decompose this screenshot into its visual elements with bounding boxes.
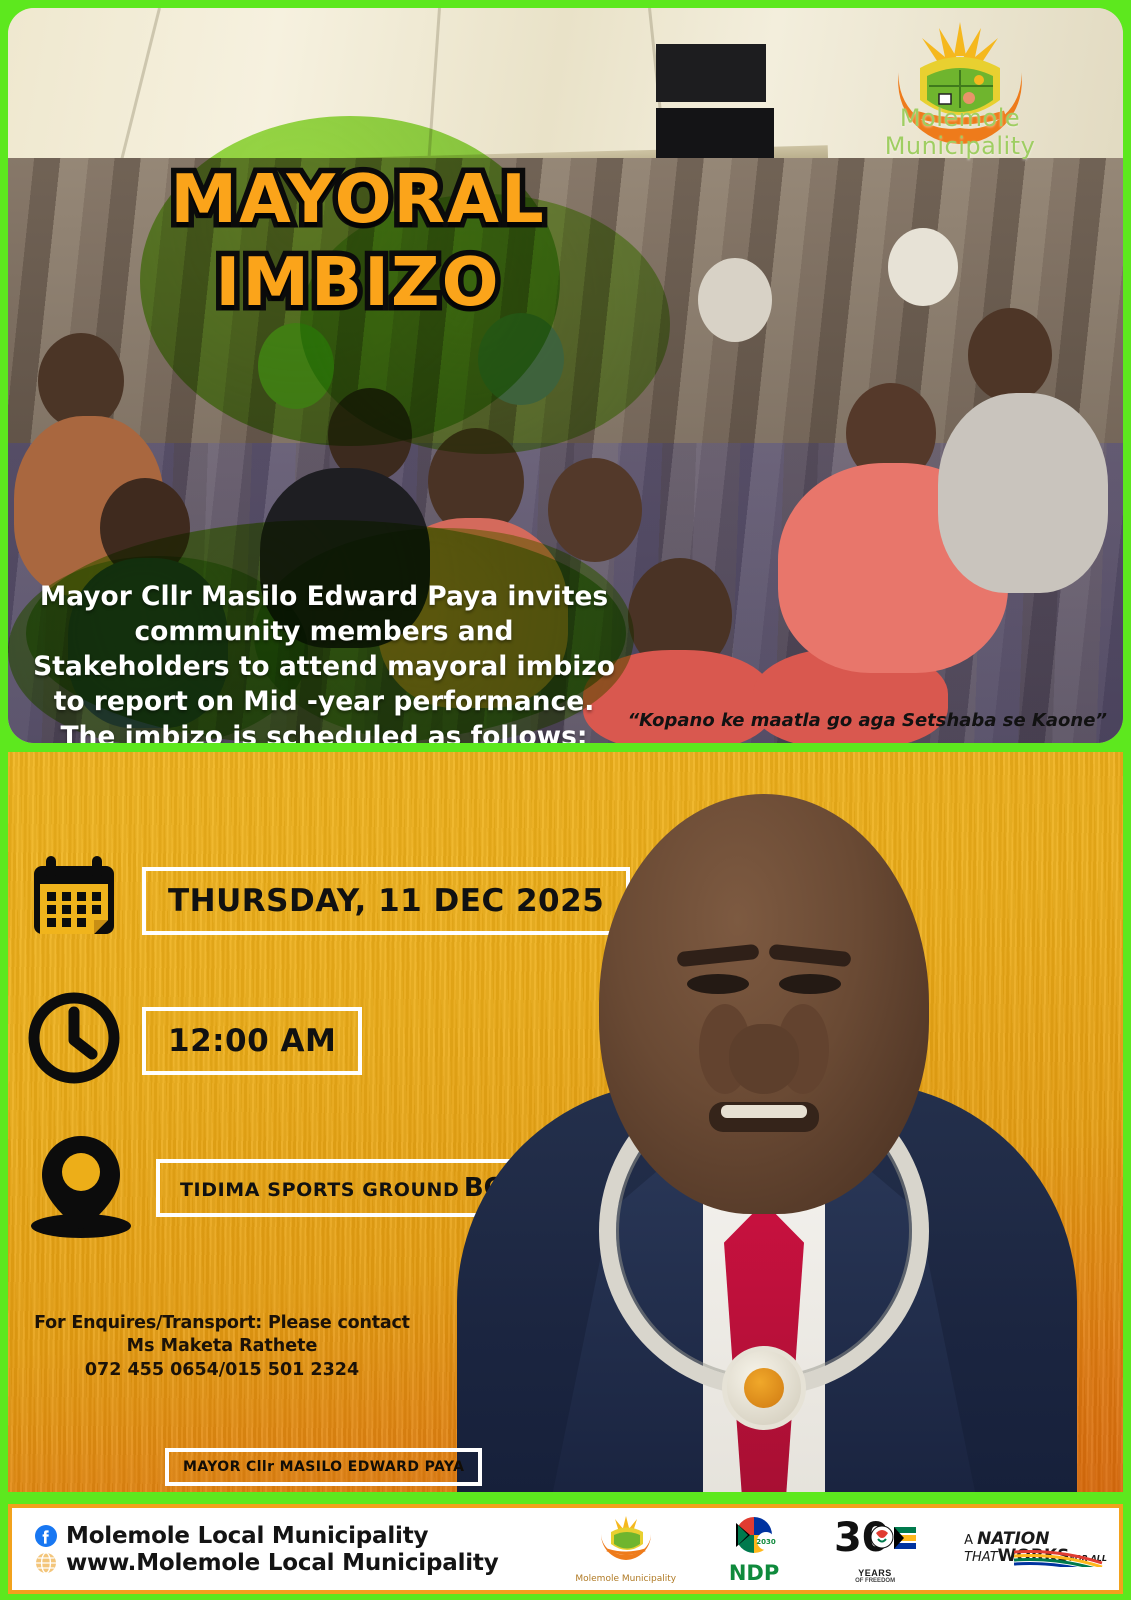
- page-title: MAYORAL IMBIZO: [128, 166, 588, 316]
- ndp-label: NDP: [722, 1564, 786, 1583]
- motto-tagline: “Kopano ke maatla go aga Setshaba se Kao…: [628, 710, 1107, 731]
- attendee: [38, 333, 124, 429]
- molemole-municipality-logo: Molemole Municipality: [825, 14, 1095, 164]
- mayor-name: MAYOR Cllr MASILO EDWARD PAYA: [183, 1459, 464, 1475]
- attendee: [888, 228, 958, 306]
- years-sub-label: OF FREEDOM: [832, 1578, 918, 1584]
- ndp-year: 2030: [756, 1538, 776, 1546]
- years-label: YEARS: [832, 1568, 918, 1578]
- contact-info: For Enquires/Transport: Please contact M…: [22, 1312, 422, 1382]
- imbizo-poster: MAYORAL IMBIZO Mayor Cllr Masilo Edward …: [0, 0, 1131, 1600]
- clock-icon: [26, 990, 122, 1091]
- footer-bar: Molemole Local Municipality www.Molemol: [8, 1504, 1123, 1594]
- a-nation-that-works-logo: A NATION THATWORKSFOR ALL: [964, 1531, 1107, 1567]
- attendee: [698, 258, 772, 342]
- municipality-crest-icon: [591, 1514, 661, 1568]
- map-pin-icon: [26, 1130, 136, 1245]
- attendee: [968, 308, 1052, 402]
- eye-right: [779, 974, 841, 994]
- eye-left: [687, 974, 749, 994]
- mayor-head: [599, 794, 929, 1214]
- facebook-row[interactable]: Molemole Local Municipality: [34, 1523, 499, 1549]
- nation-l2a: THAT: [964, 1550, 998, 1565]
- event-photo-panel: MAYORAL IMBIZO Mayor Cllr Masilo Edward …: [8, 8, 1123, 743]
- website-label: www.Molemole Local Municipality: [66, 1550, 499, 1576]
- event-time: 12:00 AM: [168, 1023, 336, 1059]
- website-row[interactable]: www.Molemole Local Municipality: [34, 1550, 499, 1576]
- 30-years-of-freedom-logo: 30 YEARS OF FREEDOM: [832, 1515, 918, 1584]
- calendar-icon: [26, 850, 122, 951]
- invitation-description: Mayor Cllr Masilo Edward Paya invites co…: [32, 580, 616, 743]
- attendee: [938, 393, 1108, 593]
- title-line-2: IMBIZO: [128, 249, 588, 316]
- contact-line-3: 072 455 0654/015 501 2324: [22, 1359, 422, 1382]
- teeth: [721, 1105, 807, 1118]
- globe-icon[interactable]: [34, 1551, 58, 1575]
- footer-molemole-caption: Molemole Municipality: [575, 1574, 676, 1584]
- ndp-flag-icon: 2030: [722, 1515, 786, 1559]
- nation-l1a: A: [964, 1533, 977, 1548]
- speaker-box: [656, 44, 766, 102]
- mayoral-medallion: [722, 1346, 806, 1430]
- time-row: 12:00 AM: [26, 990, 362, 1091]
- contact-line-2: Ms Maketa Rathete: [22, 1335, 422, 1358]
- mayor-portrait: [405, 752, 1123, 1492]
- ndp-2030-logo: 2030 NDP: [722, 1515, 786, 1583]
- mayor-name-badge: MAYOR Cllr MASILO EDWARD PAYA: [165, 1448, 482, 1486]
- footer-molemole-logo: Molemole Municipality: [575, 1514, 676, 1584]
- social-links: Molemole Local Municipality www.Molemol: [34, 1522, 499, 1577]
- time-box: 12:00 AM: [142, 1007, 362, 1075]
- facebook-icon[interactable]: [34, 1524, 58, 1548]
- title-line-1: MAYORAL: [128, 166, 588, 233]
- attendee: [548, 458, 642, 562]
- contact-line-1: For Enquires/Transport: Please contact: [22, 1312, 422, 1335]
- thirty-years-icon: 30: [832, 1515, 918, 1563]
- municipality-logo-name: Molemole Municipality: [825, 104, 1095, 160]
- partner-logos: Molemole Municipality 2030 NDP: [575, 1508, 1107, 1590]
- nose: [729, 1024, 799, 1094]
- facebook-label: Molemole Local Municipality: [66, 1523, 428, 1549]
